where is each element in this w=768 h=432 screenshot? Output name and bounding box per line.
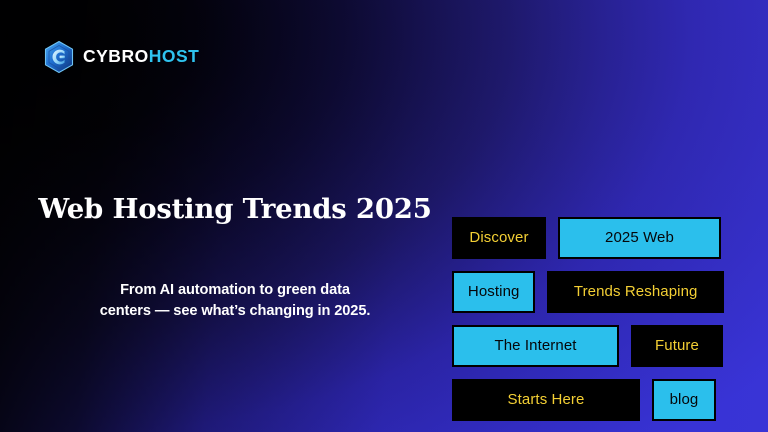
tag-blog[interactable]: blog: [652, 379, 716, 421]
hexagon-c-logo-icon: [42, 40, 76, 74]
tag-row: Discover 2025 Web: [452, 217, 724, 259]
tag-row: Hosting Trends Reshaping: [452, 271, 724, 313]
brand-logo[interactable]: CYBROHOST: [42, 40, 768, 74]
page-subtitle: From AI automation to green data centers…: [0, 280, 470, 321]
tag-row: The Internet Future: [452, 325, 724, 367]
page-title: Web Hosting Trends 2025: [0, 194, 470, 224]
tag-trends-reshaping[interactable]: Trends Reshaping: [547, 271, 724, 313]
brand-name-part2: HOST: [149, 46, 200, 66]
tag-row: Starts Here blog: [452, 379, 724, 421]
promo-banner: CYBROHOST Web Hosting Trends 2025 From A…: [0, 0, 768, 432]
tag-2025-web[interactable]: 2025 Web: [558, 217, 721, 259]
tag-discover[interactable]: Discover: [452, 217, 546, 259]
tag-hosting[interactable]: Hosting: [452, 271, 535, 313]
brand-name: CYBROHOST: [83, 48, 199, 66]
tag-grid: Discover 2025 Web Hosting Trends Reshapi…: [452, 217, 724, 421]
brand-name-part1: CYBRO: [83, 46, 149, 66]
page-subtitle-line-2: centers — see what’s changing in 2025.: [0, 301, 470, 322]
page-subtitle-line-1: From AI automation to green data: [0, 280, 470, 301]
tag-starts-here[interactable]: Starts Here: [452, 379, 640, 421]
tag-future[interactable]: Future: [631, 325, 723, 367]
tag-the-internet[interactable]: The Internet: [452, 325, 619, 367]
